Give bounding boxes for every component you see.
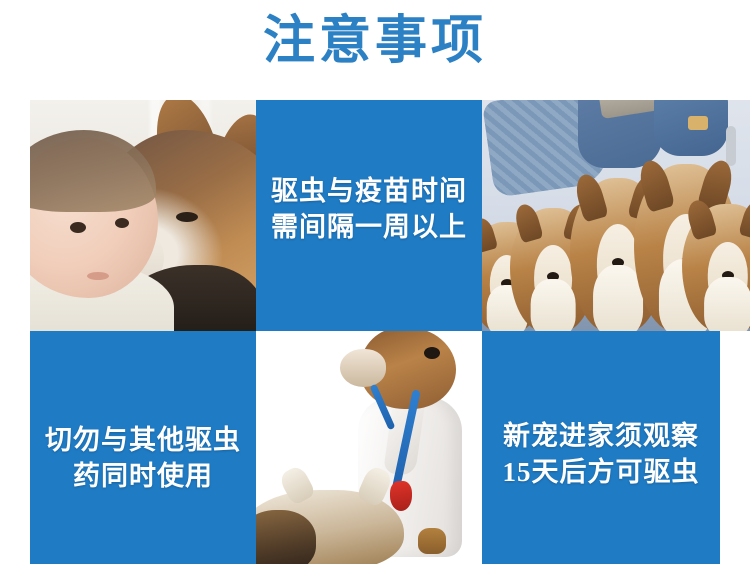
page-title: 注意事项 [0,12,750,72]
baby-hair-shape [30,130,156,212]
baby-and-shiba-inu-image [30,100,256,331]
cell-puppies-photo [482,100,750,331]
purse-strap-shape [726,126,736,166]
vet-dog-paw-shape [418,528,446,554]
cell-baby-and-dog-photo [30,100,256,331]
caption-line-2: 需间隔一周以上 [256,210,482,246]
cell-veterinarian-dog-photo [256,331,482,564]
notice-grid: 驱虫与疫苗时间 需间隔一周以上 [30,100,750,564]
notice-page: 注意事项 驱虫与疫苗时间 [0,0,750,573]
sheltie-puppies-image [482,100,750,331]
baby-eye-left-shape [70,222,86,233]
puppy-shape [682,204,750,331]
cell-caption-observe-new-pet: 新宠进家须观察 15天后方可驱虫 [482,331,750,564]
purse-embroidery-shape [688,116,708,130]
cell-caption-no-other-dewormer: 切勿与其他驱虫 药同时使用 [30,331,256,564]
caption-line-2: 药同时使用 [30,459,256,495]
caption-line-1: 切勿与其他驱虫 [30,423,256,459]
stethoscope-bell-icon [390,481,412,511]
blue-panel: 新宠进家须观察 15天后方可驱虫 [482,331,720,564]
cell-caption-deworm-vaccine-interval: 驱虫与疫苗时间 需间隔一周以上 [256,100,482,331]
dog-eye-shape [176,212,198,222]
caption-line-2: 15天后方可驱虫 [482,455,720,491]
caption-observe-new-pet: 新宠进家须观察 15天后方可驱虫 [482,419,720,490]
caption-deworm-vaccine-interval: 驱虫与疫苗时间 需间隔一周以上 [256,174,482,245]
caption-no-other-dewormer: 切勿与其他驱虫 药同时使用 [30,423,256,494]
baby-eye-right-shape [115,218,129,228]
vet-dog-eye-shape [424,347,440,359]
baby-lips-shape [87,272,109,280]
caption-line-1: 驱虫与疫苗时间 [256,174,482,210]
caption-line-1: 新宠进家须观察 [482,419,720,455]
vet-dog-muzzle-shape [340,349,386,387]
bulldog-veterinarian-image [256,331,482,564]
